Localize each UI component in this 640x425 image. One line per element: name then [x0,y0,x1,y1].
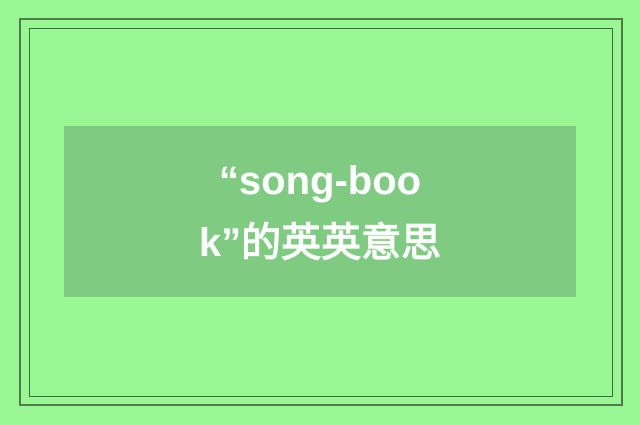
headline-text: “song-book”的英英意思 [191,150,449,274]
poster-canvas: “song-book”的英英意思 [0,0,640,425]
headline-panel: “song-book”的英英意思 [64,126,576,297]
